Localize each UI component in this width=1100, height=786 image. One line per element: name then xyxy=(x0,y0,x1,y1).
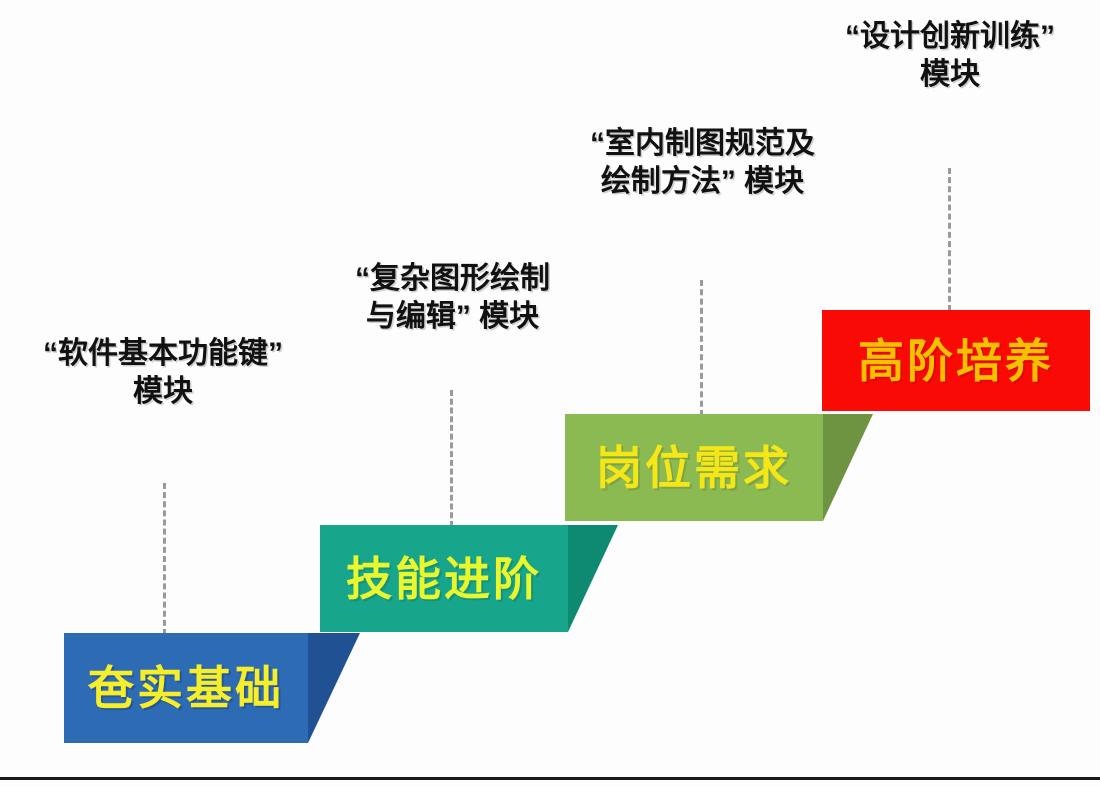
module-label-4: “设计创新训练” 模块 xyxy=(830,18,1070,95)
step-label-1: 夿实基础 xyxy=(88,665,284,711)
step-face-2: 技能进阶 xyxy=(320,525,568,632)
diagram-canvas: “软件基本功能键” 模块 “复杂图形绘制 与编辑” 模块 “室内制图规范及 绘制… xyxy=(0,0,1100,786)
step-face-1: 夿实基础 xyxy=(64,633,308,743)
bottom-divider xyxy=(0,777,1100,780)
step-block-2[interactable]: 技能进阶 xyxy=(320,525,568,632)
step-face-4: 高阶培养 xyxy=(822,310,1090,411)
connector-line-4 xyxy=(948,168,951,311)
step-label-2: 技能进阶 xyxy=(346,556,542,602)
step-block-3[interactable]: 岗位需求 xyxy=(565,414,823,521)
step-label-4: 高阶培养 xyxy=(858,338,1054,384)
step-label-3: 岗位需求 xyxy=(596,445,792,491)
module-label-2: “复杂图形绘制 与编辑” 模块 xyxy=(325,260,580,337)
module-label-1: “软件基本功能键” 模块 xyxy=(18,335,308,412)
step-side-3 xyxy=(823,414,873,521)
module-label-3: “室内制图规范及 绘制方法” 模块 xyxy=(565,125,840,202)
step-side-2 xyxy=(568,525,618,632)
step-side-1 xyxy=(308,633,360,743)
connector-line-2 xyxy=(450,390,453,527)
connector-line-1 xyxy=(163,483,166,635)
step-face-3: 岗位需求 xyxy=(565,414,823,521)
connector-line-3 xyxy=(700,280,703,416)
step-block-4[interactable]: 高阶培养 xyxy=(822,310,1090,411)
step-block-1[interactable]: 夿实基础 xyxy=(64,633,308,743)
